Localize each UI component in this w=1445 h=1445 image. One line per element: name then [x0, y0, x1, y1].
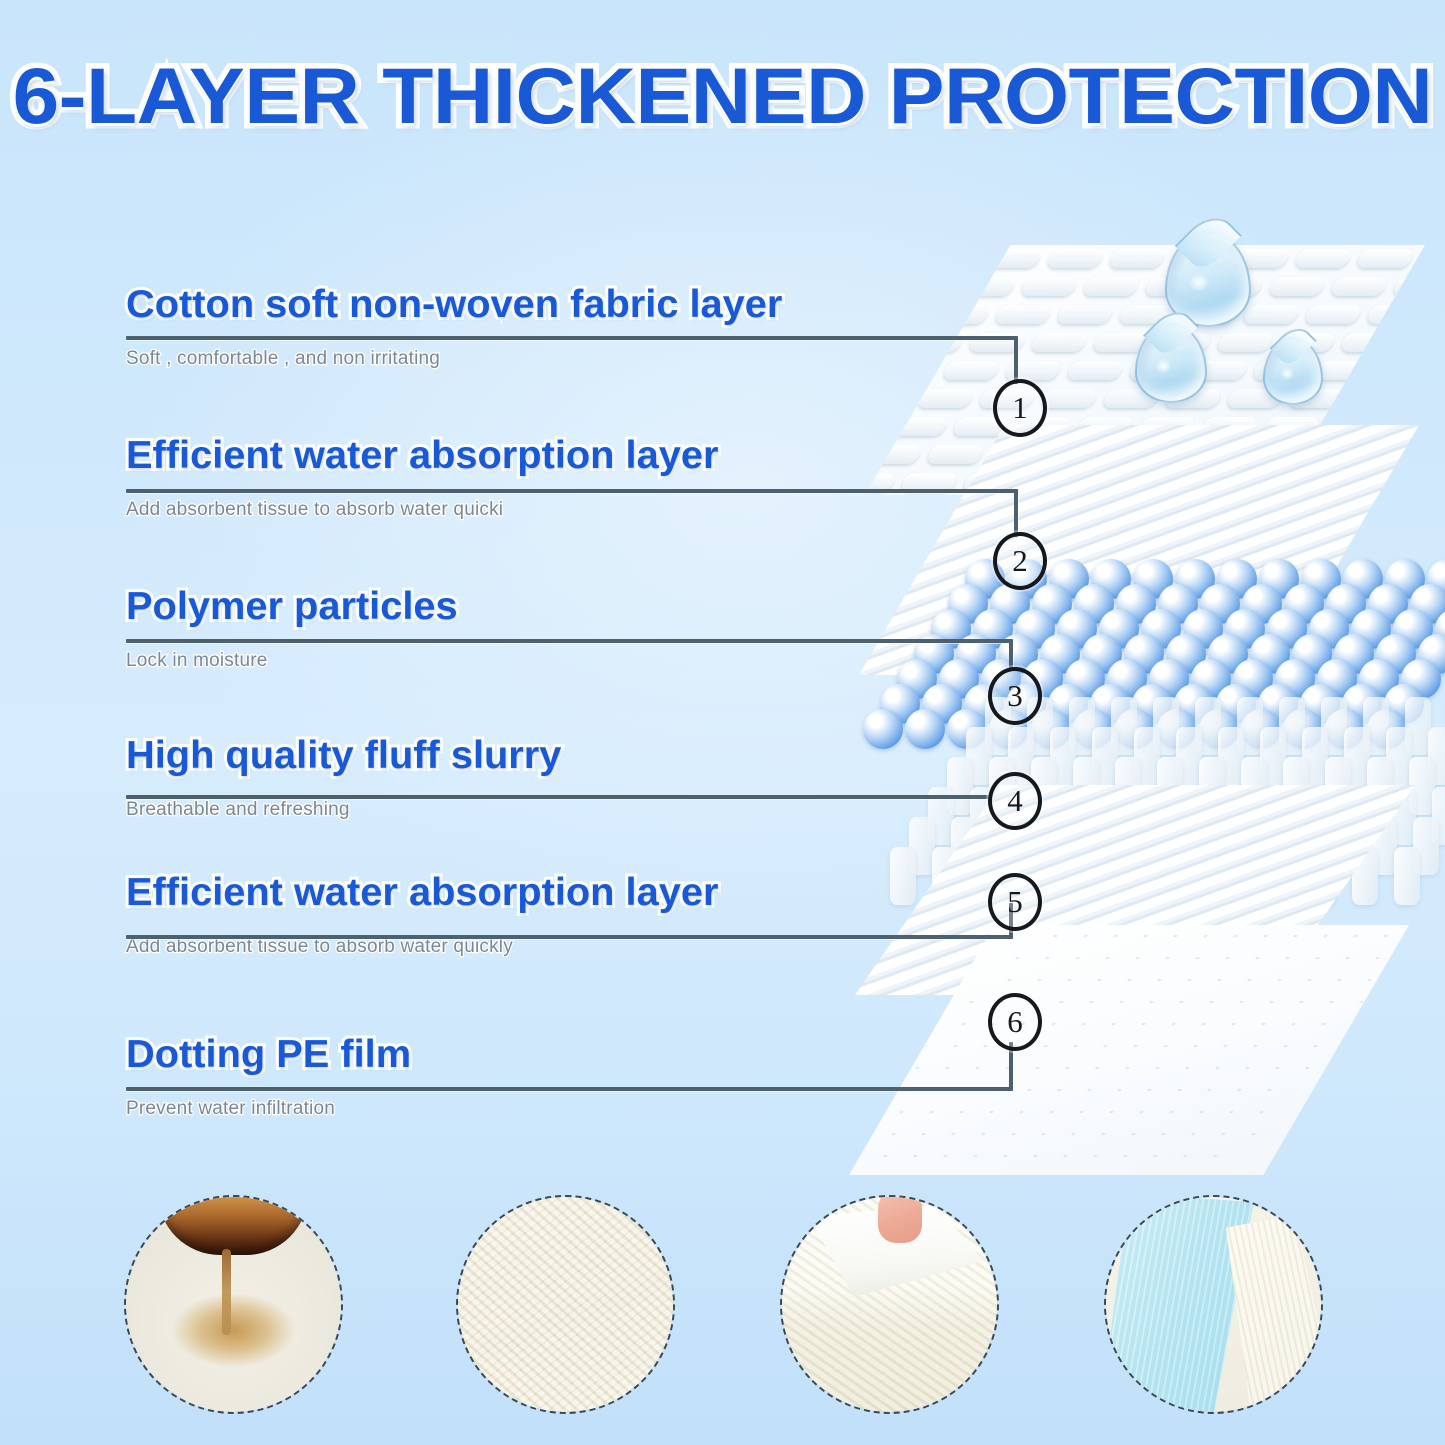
finger-icon — [878, 1197, 922, 1243]
dimple — [1356, 249, 1415, 268]
connector-line-3 — [126, 639, 1013, 643]
layer-6-desc: Prevent water infiltration — [126, 1098, 405, 1120]
thumbnail-fluff-texture[interactable] — [456, 1195, 675, 1414]
infographic-root: 6-LAYER THICKENED PROTECTION Cot — [0, 0, 1445, 1445]
dimple — [896, 277, 955, 296]
feature-thumbnail-row — [0, 1185, 1445, 1435]
dimple — [1082, 277, 1141, 296]
spoon-icon — [158, 1197, 308, 1255]
dimple — [932, 305, 991, 324]
connector-drop-2 — [1014, 489, 1018, 537]
layer-block-6: Dotting PE film Prevent water infiltrati… — [126, 1033, 405, 1120]
thumbnail-pe-backing[interactable] — [1104, 1195, 1323, 1414]
connector-line-5 — [126, 935, 1013, 939]
connector-line-2 — [126, 489, 1018, 493]
layer-block-3: Polymer particles Lock in moisture — [126, 585, 451, 672]
dimple — [984, 249, 1043, 268]
product-layer-illustration — [845, 225, 1445, 1185]
layer-5-desc: Add absorbent tissue to absorb water qui… — [126, 936, 707, 958]
dimple — [958, 277, 1017, 296]
layer-marker-5[interactable]: 5 — [988, 873, 1042, 931]
dimple — [1004, 361, 1063, 380]
dimple — [864, 445, 923, 464]
connector-drop-3 — [1009, 639, 1013, 669]
connector-line-6 — [126, 1087, 1013, 1091]
dimple — [942, 361, 1001, 380]
layer-block-1: Cotton soft non-woven fabric layer Soft … — [126, 283, 770, 370]
dimple — [1304, 305, 1363, 324]
liquid-stream — [222, 1249, 231, 1335]
fluff-tuft — [1394, 847, 1420, 905]
fluff-core-surface — [1226, 1215, 1321, 1412]
layer-2-title: Efficient water absorption layer — [126, 434, 718, 478]
dimple — [994, 305, 1053, 324]
layer-marker-4[interactable]: 4 — [988, 772, 1042, 830]
dimple — [1294, 249, 1353, 268]
layer-marker-2[interactable]: 2 — [993, 532, 1047, 590]
dimple — [1330, 277, 1389, 296]
dimple — [1046, 249, 1105, 268]
water-droplet-large — [1165, 231, 1247, 323]
thumbnail-absorption-test[interactable] — [124, 1195, 343, 1414]
connector-line-4 — [126, 795, 988, 799]
layer-marker-1[interactable]: 1 — [993, 379, 1047, 437]
dimple — [1030, 333, 1089, 352]
dimple — [1376, 361, 1435, 380]
dimple — [1350, 389, 1409, 408]
dimple — [1108, 249, 1167, 268]
layer-4-title: High quality fluff slurry — [126, 734, 561, 778]
dimple — [1428, 305, 1445, 324]
dimple — [880, 361, 939, 380]
dimple — [890, 417, 949, 436]
dimple — [1418, 249, 1445, 268]
dimple — [792, 389, 851, 408]
layer-4-desc: Breathable and refreshing — [126, 799, 553, 821]
layer-3-title: Polymer particles — [126, 585, 458, 629]
dimple — [1366, 305, 1425, 324]
water-droplet-small — [1263, 337, 1319, 401]
dimple — [1402, 333, 1445, 352]
page-title: 6-LAYER THICKENED PROTECTION — [0, 52, 1445, 140]
dimple — [1242, 305, 1301, 324]
dimple — [922, 249, 981, 268]
connector-line-1 — [126, 336, 1018, 340]
dimple — [870, 305, 929, 324]
layer-2-desc: Add absorbent tissue to absorb water qui… — [126, 499, 707, 521]
dimple — [766, 417, 825, 436]
layer-block-5: Efficient water absorption layer Add abs… — [126, 871, 707, 958]
water-droplet-medium — [1135, 323, 1203, 399]
connector-drop-1 — [1014, 336, 1018, 384]
dimple — [1340, 333, 1399, 352]
layer-marker-6[interactable]: 6 — [988, 993, 1042, 1051]
layer-block-4: High quality fluff slurry Breathable and… — [126, 734, 553, 821]
dimple — [1066, 361, 1125, 380]
thumbnail-layer-peel[interactable] — [780, 1195, 999, 1414]
dimple — [854, 389, 913, 408]
layer-5-title: Efficient water absorption layer — [126, 871, 718, 915]
dimple — [802, 445, 861, 464]
dimple — [916, 389, 975, 408]
dimple — [740, 445, 799, 464]
dimple — [926, 445, 985, 464]
layer-1-title: Cotton soft non-woven fabric layer — [126, 283, 782, 327]
layer-block-2: Efficient water absorption layer Add abs… — [126, 434, 707, 521]
dimple — [1392, 277, 1445, 296]
dimple — [818, 361, 877, 380]
dimple — [1268, 277, 1327, 296]
dimple — [1056, 305, 1115, 324]
dimple — [828, 417, 887, 436]
layer-3-desc: Lock in moisture — [126, 650, 451, 672]
layer-1-desc: Soft , comfortable , and non irritating — [126, 348, 770, 370]
dimple — [1020, 277, 1079, 296]
fluff-tuft — [890, 847, 916, 905]
dimple — [1040, 389, 1099, 408]
layer-marker-3[interactable]: 3 — [988, 667, 1042, 725]
layer-6-title: Dotting PE film — [126, 1033, 411, 1077]
